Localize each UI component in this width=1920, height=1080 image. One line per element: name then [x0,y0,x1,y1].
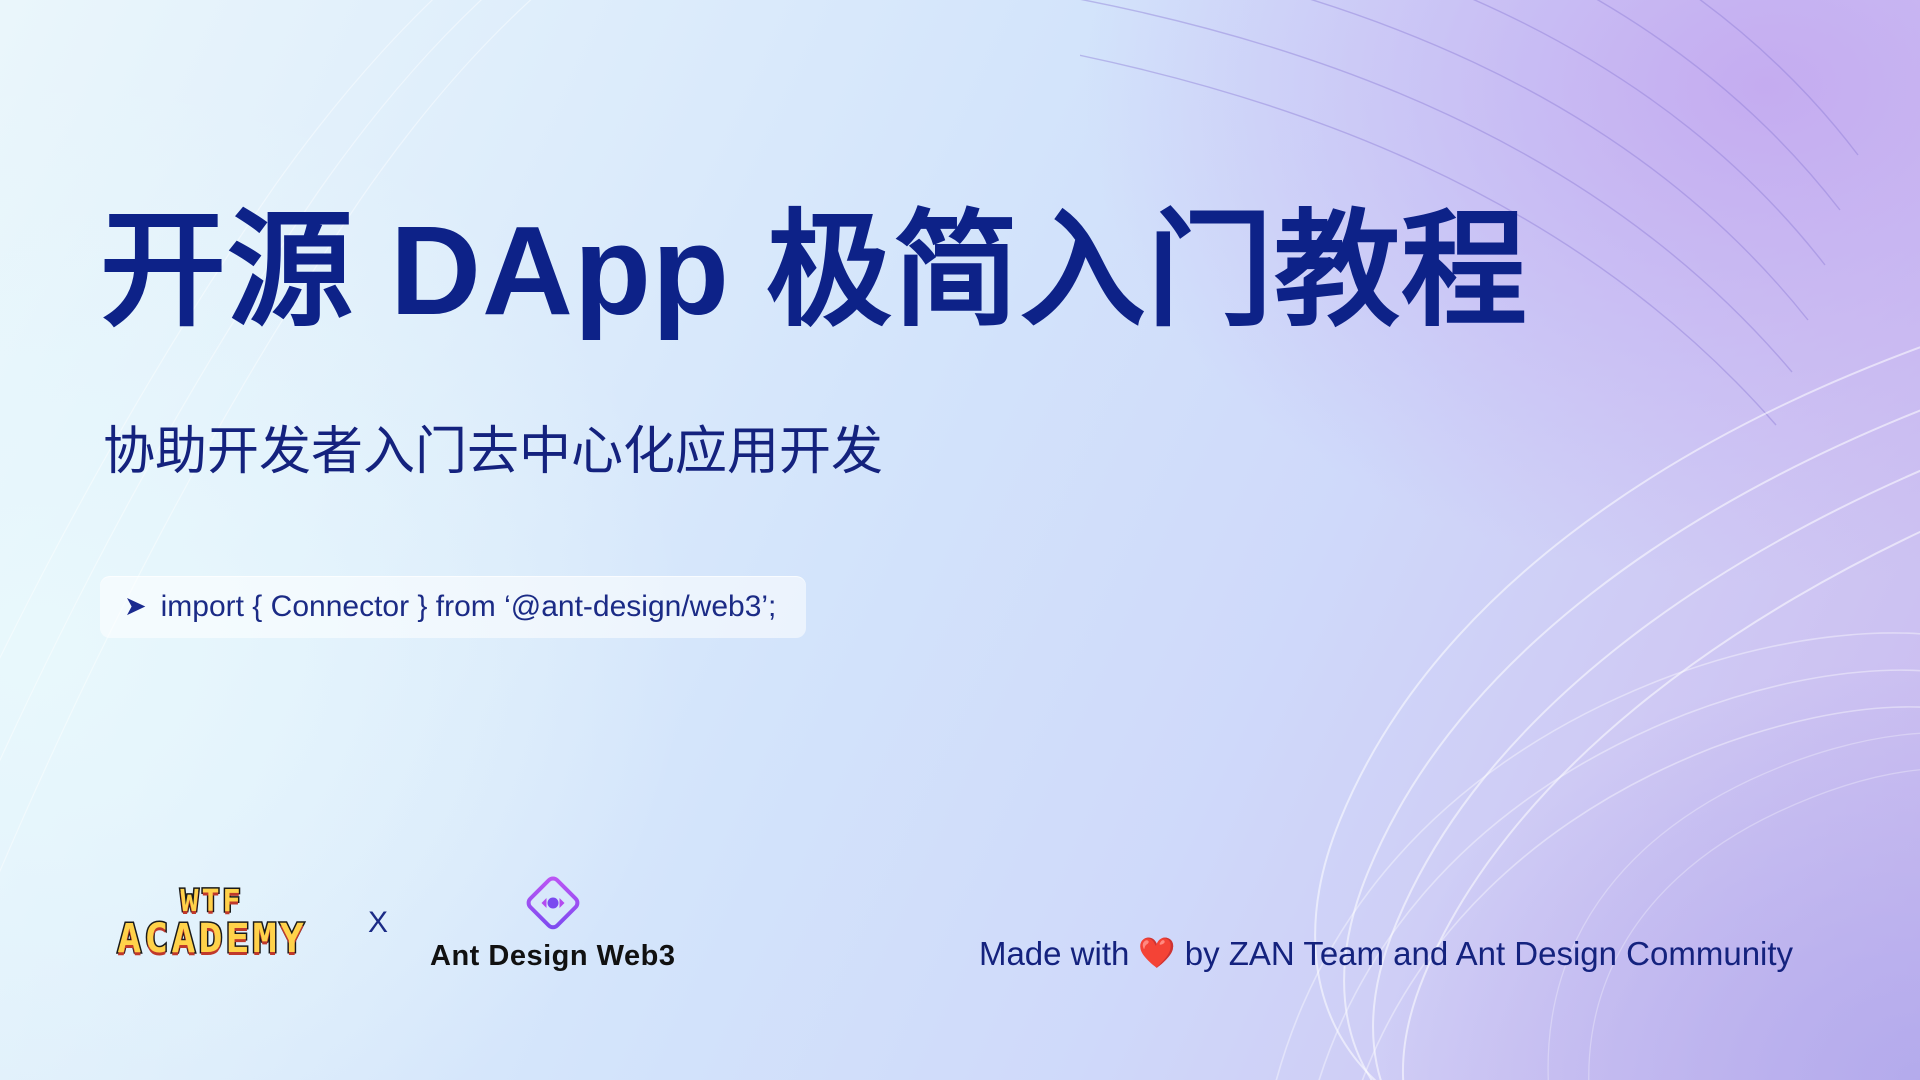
wtf-academy-logo-line2: ACADEMY [117,919,307,959]
wtf-academy-logo-line1: WTF [180,887,243,917]
logo-separator: X [368,906,388,940]
ant-design-web3-logo: Ant Design Web3 [430,872,675,973]
credit-prefix: Made with [979,935,1129,973]
arrow-right-icon: ➤ [124,593,147,620]
code-snippet-pill: ➤ import { Connector } from ‘@ant-design… [100,576,806,638]
credit-line: Made with ❤️ by ZAN Team and Ant Design … [979,935,1793,973]
footer-logo-group: WTF ACADEMY X [96,872,675,973]
promo-banner: 开源 DApp 极简入门教程 协助开发者入门去中心化应用开发 ➤ import … [0,0,1920,1080]
ant-design-web3-logo-label: Ant Design Web3 [430,940,675,973]
heart-icon: ❤️ [1138,939,1175,969]
page-title: 开源 DApp 极简入门教程 [100,208,1528,334]
wtf-academy-logo: WTF ACADEMY [96,875,328,971]
page-subtitle: 协助开发者入门去中心化应用开发 [103,421,883,483]
credit-suffix: by ZAN Team and Ant Design Community [1185,935,1793,973]
code-snippet-text: import { Connector } from ‘@ant-design/w… [161,590,777,624]
ant-design-web3-diamond-icon [522,872,584,934]
